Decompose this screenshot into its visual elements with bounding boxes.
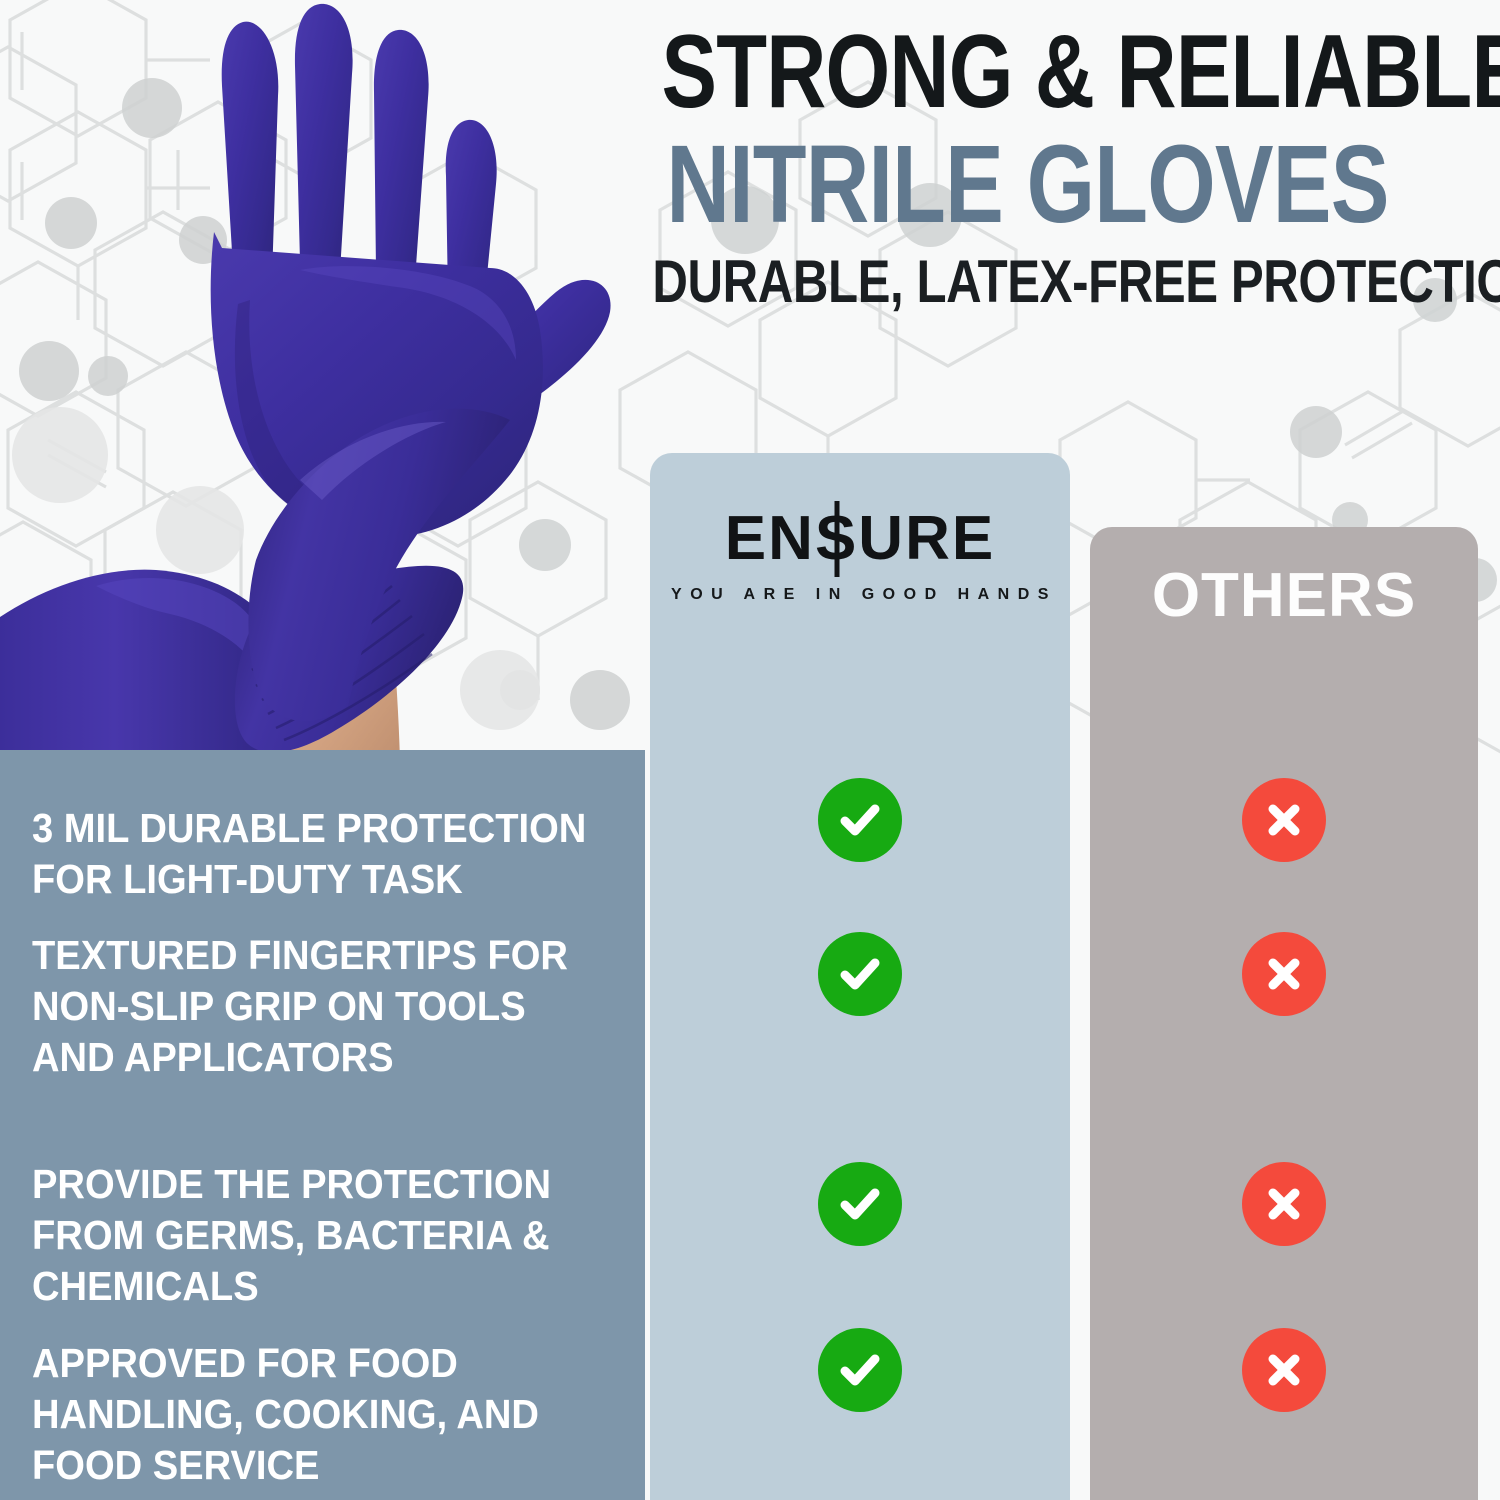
feature-item: PROVIDE THE PROTECTION FROM GERMS, BACTE… — [32, 1159, 590, 1312]
feature-item: TEXTURED FINGERTIPS FOR NON-SLIP GRIP ON… — [32, 930, 590, 1083]
others-label: OTHERS — [1090, 565, 1478, 627]
check-circle-icon — [818, 1328, 902, 1412]
cross-circle-icon — [1242, 778, 1326, 862]
check-circle-icon — [818, 778, 902, 862]
ensure-wordmark: ENSURE — [725, 508, 995, 570]
feature-item: APPROVED FOR FOOD HANDLING, COOKING, AND… — [32, 1338, 590, 1491]
headline-line-3: DURABLE, LATEX-FREE PROTECTION — [652, 252, 1402, 312]
cross-circle-icon — [1242, 1162, 1326, 1246]
ensure-wordmark-s: S — [815, 508, 858, 570]
nitrile-glove-photo — [0, 0, 660, 760]
infographic-canvas: STRONG & RELIABLE NITRILE GLOVES DURABLE… — [0, 0, 1500, 1500]
headline-block: STRONG & RELIABLE NITRILE GLOVES DURABLE… — [570, 22, 1485, 312]
check-circle-icon — [818, 1162, 902, 1246]
ensure-logo: ENSURE YOU ARE IN GOOD HANDS — [650, 508, 1070, 604]
cross-circle-icon — [1242, 1328, 1326, 1412]
features-panel: 3 MIL DURABLE PROTECTION FOR LIGHT-DUTY … — [0, 750, 645, 1500]
ensure-wordmark-part1: EN — [725, 504, 815, 573]
headline-line-2: NITRILE GLOVES — [662, 130, 1394, 240]
feature-item: 3 MIL DURABLE PROTECTION FOR LIGHT-DUTY … — [32, 803, 590, 905]
cross-circle-icon — [1242, 932, 1326, 1016]
ensure-wordmark-part2: URE — [858, 504, 995, 573]
check-circle-icon — [818, 932, 902, 1016]
ensure-tagline: YOU ARE IN GOOD HANDS — [650, 586, 1070, 604]
headline-line-1: STRONG & RELIABLE — [662, 22, 1394, 124]
